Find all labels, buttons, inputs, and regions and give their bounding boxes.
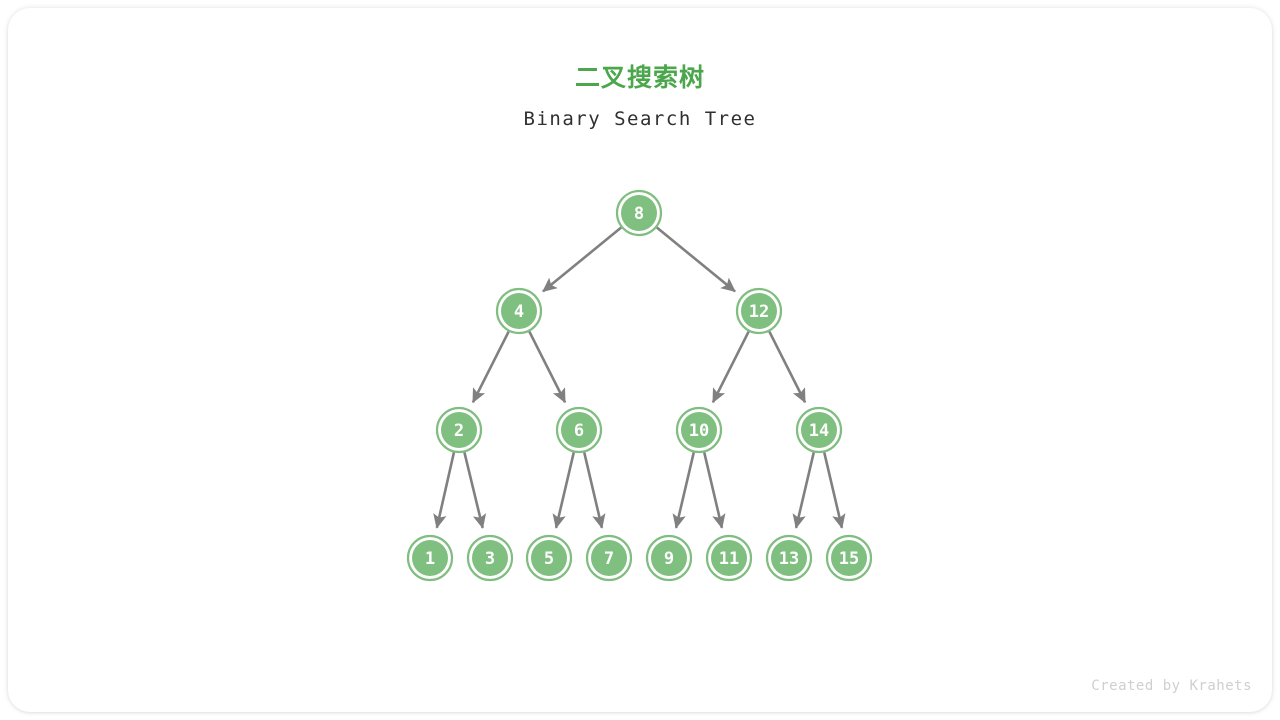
node-value-label: 15 xyxy=(839,549,859,569)
node-value-label: 13 xyxy=(779,549,799,569)
tree-edge-10-to-9 xyxy=(676,452,694,527)
diagram-card: 二叉搜索树 Binary Search Tree 841226101413579… xyxy=(8,8,1272,712)
node-value-label: 6 xyxy=(574,421,584,441)
tree-node-3[interactable]: 3 xyxy=(468,536,512,580)
tree-edge-4-to-2 xyxy=(473,332,509,403)
node-value-label: 8 xyxy=(634,204,644,224)
tree-node-13[interactable]: 13 xyxy=(767,536,811,580)
node-value-label: 9 xyxy=(664,549,674,569)
node-value-label: 4 xyxy=(514,302,524,322)
node-value-label: 10 xyxy=(689,421,709,441)
tree-node-10[interactable]: 10 xyxy=(677,408,721,452)
tree-node-1[interactable]: 1 xyxy=(408,536,452,580)
tree-edge-12-to-14 xyxy=(769,332,805,403)
node-value-label: 3 xyxy=(485,549,495,569)
tree-node-8[interactable]: 8 xyxy=(617,191,661,235)
tree-node-5[interactable]: 5 xyxy=(527,536,571,580)
tree-node-7[interactable]: 7 xyxy=(587,536,631,580)
tree-node-12[interactable]: 12 xyxy=(737,289,781,333)
tree-node-15[interactable]: 15 xyxy=(827,536,871,580)
credit-text: Created by Krahets xyxy=(1091,678,1252,694)
tree-edge-6-to-5 xyxy=(556,452,574,527)
node-value-label: 1 xyxy=(425,549,435,569)
tree-node-6[interactable]: 6 xyxy=(557,408,601,452)
tree-edge-4-to-6 xyxy=(529,332,565,403)
tree-edge-14-to-15 xyxy=(824,452,842,527)
tree-node-2[interactable]: 2 xyxy=(437,408,481,452)
tree-edge-8-to-12 xyxy=(657,228,735,292)
tree-node-4[interactable]: 4 xyxy=(497,289,541,333)
tree-edge-6-to-7 xyxy=(584,452,602,527)
tree-edges xyxy=(437,228,842,528)
tree-edge-2-to-1 xyxy=(437,452,454,527)
tree-node-9[interactable]: 9 xyxy=(647,536,691,580)
node-value-label: 7 xyxy=(604,549,614,569)
tree-edge-2-to-3 xyxy=(464,452,482,528)
tree-nodes: 841226101413579111315 xyxy=(408,191,871,580)
node-value-label: 11 xyxy=(719,549,739,569)
node-value-label: 5 xyxy=(544,549,554,569)
tree-edge-8-to-4 xyxy=(543,228,621,292)
node-value-label: 12 xyxy=(749,302,769,322)
tree-edge-12-to-10 xyxy=(713,332,749,403)
tree-node-11[interactable]: 11 xyxy=(707,536,751,580)
node-value-label: 14 xyxy=(809,421,829,441)
tree-node-14[interactable]: 14 xyxy=(797,408,841,452)
binary-search-tree-diagram: 841226101413579111315 xyxy=(8,8,1272,712)
node-value-label: 2 xyxy=(454,421,464,441)
tree-edge-10-to-11 xyxy=(704,452,722,527)
tree-edge-14-to-13 xyxy=(796,452,814,527)
